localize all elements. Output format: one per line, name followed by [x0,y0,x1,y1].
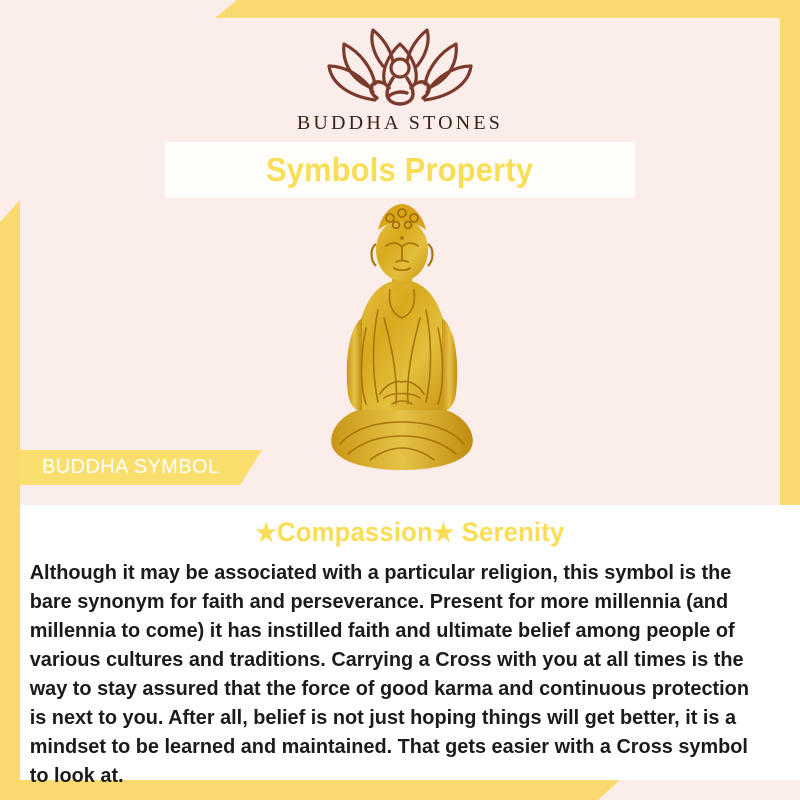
brand-logo: BUDDHA STONES [0,22,800,135]
brand-wordmark: BUDDHA STONES [0,112,800,135]
title-banner: Symbols Property [165,142,635,198]
virtues-heading: ★Compassion★ Serenity [40,505,781,548]
lotus-meditation-figure-icon [315,22,485,108]
star-icon-left: ★ [256,519,277,547]
content-panel: ★Compassion★ Serenity Although it may be… [20,505,800,780]
section-tag-label: BUDDHA SYMBOL [42,456,219,479]
page-title: Symbols Property [266,151,533,189]
decorative-top-bar [215,0,800,18]
virtue-serenity: Serenity [462,517,565,547]
virtue-compassion: Compassion [277,517,433,547]
description-paragraph: Although it may be associated with a par… [20,548,777,790]
golden-seated-buddha-statue-icon [322,198,482,488]
decorative-left-bar [0,200,20,800]
poster-root: BUDDHA STONES Symbols Property [0,0,800,800]
section-tag-buddha-symbol: BUDDHA SYMBOL [20,450,262,485]
star-icon-right: ★ [433,519,454,547]
buddha-statue-image [322,198,482,488]
